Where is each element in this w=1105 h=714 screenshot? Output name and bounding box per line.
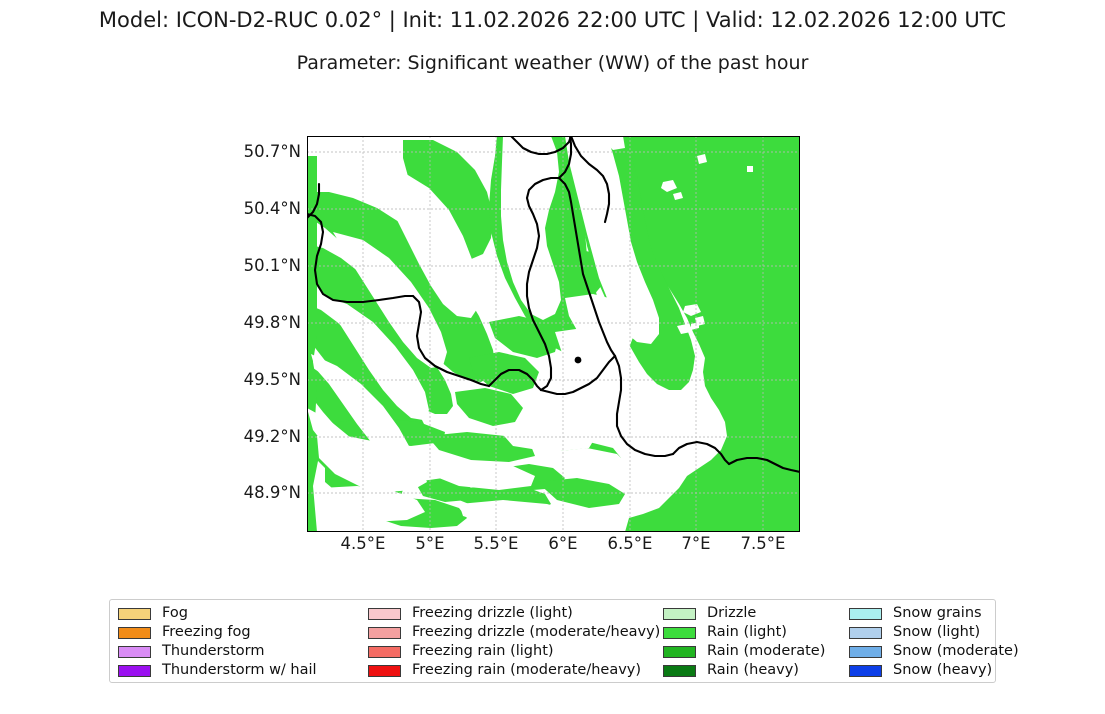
longitude-tick-label: 5.5°E	[474, 534, 519, 554]
longitude-tick-label: 6°E	[548, 534, 577, 554]
weather-map-canvas[interactable]	[307, 136, 800, 532]
legend-item-label: Freezing rain (moderate/heavy)	[412, 662, 641, 679]
legend-color-swatch	[849, 627, 882, 639]
legend-color-swatch	[849, 608, 882, 620]
legend-color-swatch	[118, 608, 151, 620]
legend-item-label: Freezing drizzle (light)	[412, 605, 573, 622]
latitude-tick-label: 48.9°N	[211, 484, 301, 502]
longitude-tick-label: 7°E	[681, 534, 710, 554]
legend-column: Freezing drizzle (light)Freezing drizzle…	[368, 604, 660, 680]
legend-item[interactable]: Drizzle	[663, 604, 825, 623]
legend-color-swatch	[118, 665, 151, 677]
legend-item-label: Freezing rain (light)	[412, 643, 554, 660]
legend-item[interactable]: Fog	[118, 604, 317, 623]
legend-item-label: Fog	[162, 605, 188, 622]
page-title: Model: ICON-D2-RUC 0.02° | Init: 11.02.2…	[0, 7, 1105, 33]
legend-item[interactable]: Rain (moderate)	[663, 642, 825, 661]
legend-column: DrizzleRain (light)Rain (moderate)Rain (…	[663, 604, 825, 680]
legend-item[interactable]: Freezing drizzle (light)	[368, 604, 660, 623]
legend-item[interactable]: Rain (heavy)	[663, 661, 825, 680]
page-subtitle: Parameter: Significant weather (WW) of t…	[0, 51, 1105, 75]
legend-color-swatch	[663, 665, 696, 677]
legend-item-label: Snow grains	[893, 605, 982, 622]
latitude-axis: 50.7°N50.4°N50.1°N49.8°N49.5°N49.2°N48.9…	[207, 136, 301, 532]
legend-color-swatch	[368, 665, 401, 677]
legend-item-label: Freezing drizzle (moderate/heavy)	[412, 624, 660, 641]
longitude-tick-label: 6.5°E	[608, 534, 653, 554]
legend-item[interactable]: Rain (light)	[663, 623, 825, 642]
latitude-tick-label: 49.8°N	[211, 314, 301, 332]
legend-item[interactable]: Freezing rain (moderate/heavy)	[368, 661, 660, 680]
legend-item-label: Rain (heavy)	[707, 662, 799, 679]
longitude-tick-label: 4.5°E	[341, 534, 386, 554]
legend-item-label: Snow (moderate)	[893, 643, 1019, 660]
legend-color-swatch	[368, 646, 401, 658]
legend-item-label: Thunderstorm	[162, 643, 264, 660]
city-marker-luxembourg[interactable]	[575, 357, 582, 364]
legend-color-swatch	[663, 646, 696, 658]
legend-item-label: Freezing fog	[162, 624, 251, 641]
latitude-tick-label: 50.7°N	[211, 143, 301, 161]
legend-item-label: Rain (light)	[707, 624, 787, 641]
longitude-tick-label: 7.5°E	[741, 534, 786, 554]
weather-map[interactable]	[307, 136, 800, 532]
legend-color-swatch	[118, 627, 151, 639]
legend-item[interactable]: Snow (heavy)	[849, 661, 1019, 680]
legend-item[interactable]: Snow (light)	[849, 623, 1019, 642]
longitude-tick-label: 5°E	[415, 534, 444, 554]
legend-color-swatch	[663, 608, 696, 620]
legend-item[interactable]: Thunderstorm	[118, 642, 317, 661]
legend-item[interactable]: Freezing drizzle (moderate/heavy)	[368, 623, 660, 642]
legend-item[interactable]: Thunderstorm w/ hail	[118, 661, 317, 680]
legend-color-swatch	[118, 646, 151, 658]
legend-item[interactable]: Snow (moderate)	[849, 642, 1019, 661]
longitude-axis: 4.5°E5°E5.5°E6°E6.5°E7°E7.5°E	[307, 534, 800, 560]
legend-color-swatch	[849, 646, 882, 658]
legend-item[interactable]: Freezing fog	[118, 623, 317, 642]
legend-column: FogFreezing fogThunderstormThunderstorm …	[118, 604, 317, 680]
legend-color-swatch	[663, 627, 696, 639]
legend-column: Snow grainsSnow (light)Snow (moderate)Sn…	[849, 604, 1019, 680]
legend-color-swatch	[368, 627, 401, 639]
latitude-tick-label: 49.5°N	[211, 371, 301, 389]
legend-item-label: Drizzle	[707, 605, 756, 622]
legend-item-label: Rain (moderate)	[707, 643, 825, 660]
latitude-tick-label: 49.2°N	[211, 428, 301, 446]
legend-item-label: Snow (heavy)	[893, 662, 992, 679]
legend-item[interactable]: Freezing rain (light)	[368, 642, 660, 661]
latitude-tick-label: 50.4°N	[211, 200, 301, 218]
legend-color-swatch	[849, 665, 882, 677]
latitude-tick-label: 50.1°N	[211, 257, 301, 275]
legend-item-label: Thunderstorm w/ hail	[162, 662, 317, 679]
legend-color-swatch	[368, 608, 401, 620]
legend-item[interactable]: Snow grains	[849, 604, 1019, 623]
weather-legend: FogFreezing fogThunderstormThunderstorm …	[109, 599, 996, 683]
legend-item-label: Snow (light)	[893, 624, 980, 641]
